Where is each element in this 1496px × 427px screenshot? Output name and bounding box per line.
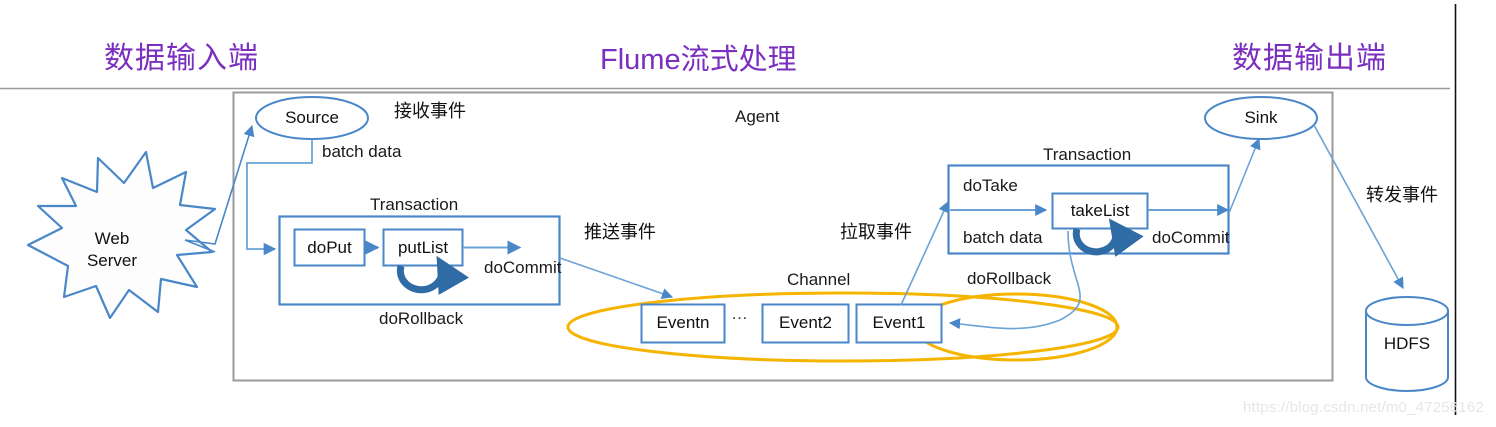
left-dorollback-label: doRollback — [379, 310, 463, 327]
edge-right-transaction-to-sink — [1229, 139, 1259, 213]
label-forward-event: 转发事件 — [1366, 186, 1438, 204]
label-pull-event: 拉取事件 — [840, 223, 912, 241]
source-ellipse — [256, 97, 368, 139]
label-receive-event: 接收事件 — [394, 102, 466, 120]
title-flume-stream: Flume流式处理 — [600, 46, 797, 75]
label-push-event: 推送事件 — [584, 223, 656, 241]
event-box-event1 — [857, 305, 942, 343]
events-ellipsis: … — [731, 305, 748, 322]
doput-box — [295, 230, 365, 266]
watermark: https://blog.csdn.net/m0_47256162 — [1243, 399, 1484, 416]
takelist-box — [1053, 194, 1148, 229]
edge-channel-to-right-transaction — [901, 202, 948, 305]
sink-ellipse — [1205, 97, 1317, 139]
label-batch-data-left: batch data — [322, 143, 401, 160]
right-batch-data-label: batch data — [963, 229, 1042, 246]
agent-label: Agent — [735, 108, 779, 125]
left-docommit-label: doCommit — [484, 259, 561, 276]
title-data-output: 数据输出端 — [1232, 44, 1387, 74]
channel-label: Channel — [787, 271, 850, 288]
edge-webserver-to-source — [185, 126, 252, 244]
channel-inner-ellipse — [915, 294, 1117, 360]
edge-transaction-to-channel — [560, 258, 672, 297]
diagram-canvas: 数据输入端 Flume流式处理 数据输出端 Agent Web Server S… — [0, 0, 1496, 427]
right-dorollback-label: doRollback — [967, 270, 1051, 287]
right-transaction-title: Transaction — [1043, 146, 1131, 163]
title-data-input: 数据输入端 — [104, 44, 259, 74]
hdfs-cylinder — [1366, 297, 1448, 391]
edge-sink-to-hdfs — [1314, 125, 1403, 288]
dotake-label: doTake — [963, 177, 1018, 194]
putlist-box — [384, 230, 463, 266]
left-transaction-title: Transaction — [370, 196, 458, 213]
web-server-starburst — [28, 152, 215, 318]
right-docommit-label: doCommit — [1152, 229, 1229, 246]
event-box-event2 — [763, 305, 849, 343]
event-box-eventn — [642, 305, 725, 343]
